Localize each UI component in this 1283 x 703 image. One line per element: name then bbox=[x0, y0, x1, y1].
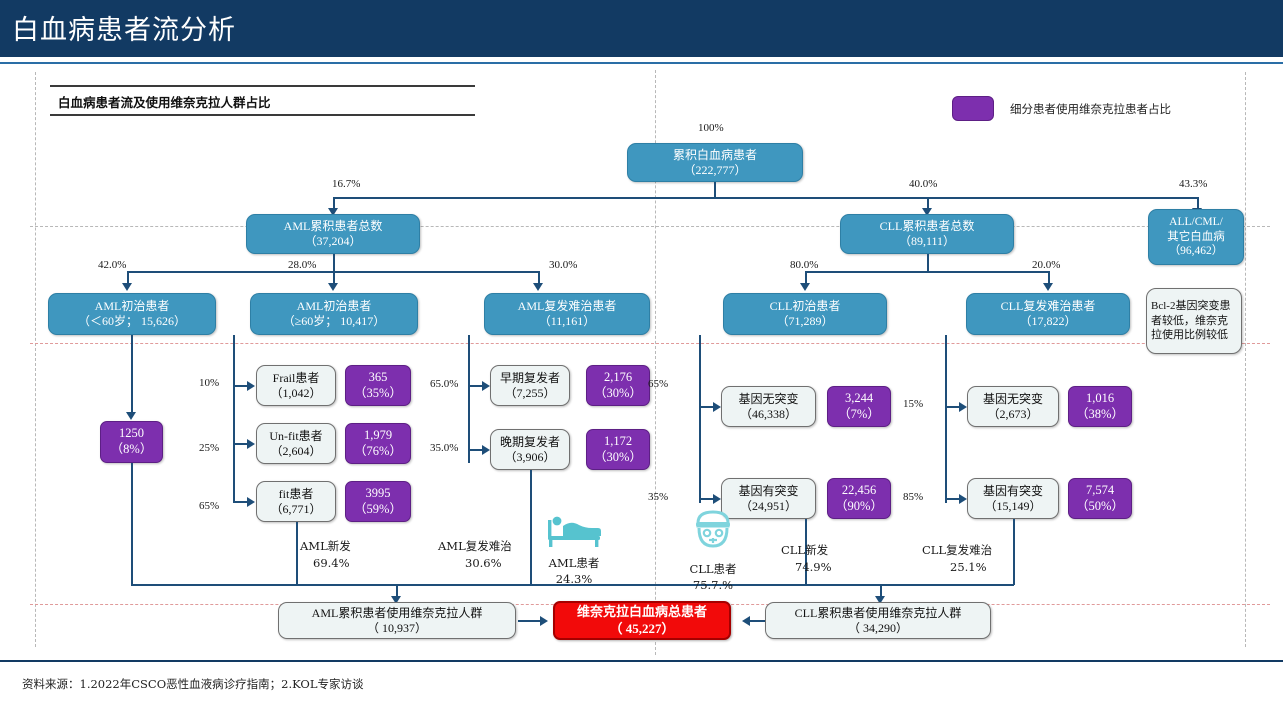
node-cll-relapse[interactable]: CLL复发难治患者 （17,822） bbox=[966, 293, 1130, 335]
pct-cll-relapse: 20.0% bbox=[1032, 259, 1060, 271]
node-cll-first-nomut-name: 基因无突变 bbox=[738, 392, 798, 407]
conn-cllfirst-spine bbox=[699, 335, 701, 503]
conn-cllrel-collect bbox=[1013, 519, 1015, 585]
node-grand-total-name: 维奈克拉白血病总患者 bbox=[577, 604, 707, 620]
guide-horizontal-top bbox=[30, 226, 1270, 227]
pct-early-relapse: 65.0% bbox=[430, 378, 458, 390]
node-cll-first-nomut-ven-pct: （7%） bbox=[838, 407, 880, 423]
guide-vertical-left bbox=[35, 72, 36, 647]
node-cll-first-mut-ven-value: 22,456 bbox=[842, 483, 876, 499]
page-title: 白血病患者流分析 bbox=[12, 8, 236, 47]
node-aml-total-value: （37,204） bbox=[304, 234, 361, 249]
node-frail-value: （1,042） bbox=[270, 386, 321, 401]
node-cll-total-value: （89,111） bbox=[899, 234, 955, 249]
arrow-to-aml-o60 bbox=[328, 283, 338, 291]
conn-cll-bus bbox=[805, 271, 1050, 273]
conn-cll-down bbox=[927, 254, 929, 272]
pct-cll-rel-mut: 85% bbox=[903, 491, 923, 503]
arrow-aml-to-total bbox=[540, 616, 548, 626]
legend: 细分患者使用维奈克拉患者占比 bbox=[952, 96, 1171, 121]
conn-amlo60-collect bbox=[296, 522, 298, 585]
node-cll-rel-mut-value: （15,149） bbox=[984, 499, 1041, 514]
label-cll-patient: CLL患者 bbox=[683, 561, 743, 577]
pct-aml-total: 16.7% bbox=[332, 178, 360, 190]
node-late-relapse[interactable]: 晚期复发者 （3,906） bbox=[490, 429, 570, 470]
arrow-to-cll-first-nomut bbox=[713, 402, 721, 412]
arrow-to-cll-rel-mut bbox=[959, 494, 967, 504]
pct-aml-over60: 28.0% bbox=[288, 259, 316, 271]
node-root-value: （222,777） bbox=[683, 163, 746, 178]
arrow-to-cll-rel bbox=[1043, 283, 1053, 291]
node-late-relapse-value: （3,906） bbox=[504, 450, 555, 465]
node-grand-total-value: （ 45,227） bbox=[609, 621, 674, 637]
node-aml-ven-total-name: AML累积患者使用维奈克拉人群 bbox=[312, 606, 483, 621]
node-root-name: 累积白血病患者 bbox=[673, 148, 757, 163]
node-early-relapse-ven[interactable]: 2,176 （30%） bbox=[586, 365, 650, 406]
node-cll-rel-nomut-name: 基因无突变 bbox=[983, 392, 1043, 407]
node-cll-first-mut-name: 基因有突变 bbox=[738, 484, 798, 499]
pct-cll-total: 40.0% bbox=[909, 178, 937, 190]
node-cll-rel-mut[interactable]: 基因有突变 （15,149） bbox=[967, 478, 1059, 519]
node-aml-ven-total[interactable]: AML累积患者使用维奈克拉人群 （ 10,937） bbox=[278, 602, 516, 639]
conn-amlrel-collect bbox=[530, 470, 532, 585]
hospital-bed-icon bbox=[546, 512, 602, 553]
node-unfit-ven[interactable]: 1,979 （76%） bbox=[345, 423, 411, 464]
node-early-relapse-value: （7,255） bbox=[504, 386, 555, 401]
node-cll-first-nomut-value: （46,338） bbox=[740, 407, 797, 422]
arrow-to-aml-u60 bbox=[122, 283, 132, 291]
note-bcl2-text: Bcl-2基因突变患者较低，维奈克拉使用比例较低 bbox=[1151, 299, 1237, 344]
node-frail-name: Frail患者 bbox=[273, 371, 320, 386]
node-cll-rel-mut-ven-pct: （50%） bbox=[1076, 499, 1124, 515]
conn-amlu60-down bbox=[131, 335, 133, 414]
arrow-to-unfit bbox=[247, 439, 255, 449]
pct-late-relapse: 35.0% bbox=[430, 442, 458, 454]
conn-aml-to-total bbox=[518, 620, 542, 622]
label-aml-rr: AML复发难治 bbox=[438, 538, 512, 554]
conn-amlu60ven-down bbox=[131, 463, 133, 585]
legend-swatch-purple bbox=[952, 96, 994, 121]
legend-label: 细分患者使用维奈克拉患者占比 bbox=[1010, 101, 1171, 117]
node-cll-ven-total-value: （ 34,290） bbox=[848, 621, 908, 636]
node-root-leukemia[interactable]: 累积白血病患者 （222,777） bbox=[627, 143, 803, 182]
subtitle-text: 白血病患者流及使用维奈克拉人群占比 bbox=[50, 87, 475, 114]
node-late-relapse-ven[interactable]: 1,172 （30%） bbox=[586, 429, 650, 470]
node-fit-ven-value: 3995 bbox=[366, 486, 391, 502]
arrow-amlu60-down bbox=[126, 412, 136, 420]
node-aml-total[interactable]: AML累积患者总数 （37,204） bbox=[246, 214, 420, 254]
conn-amlrel-spine bbox=[468, 335, 470, 463]
section-subtitle: 白血病患者流及使用维奈克拉人群占比 bbox=[50, 85, 475, 116]
node-cll-rel-mut-ven[interactable]: 7,574 （50%） bbox=[1068, 478, 1132, 519]
node-other-leukemia[interactable]: ALL/CML/ 其它白血病 （96,462） bbox=[1148, 209, 1244, 265]
label-cll-new: CLL新发 bbox=[781, 542, 828, 558]
node-aml-relapse-value: （11,161） bbox=[539, 314, 596, 329]
node-aml-under60-ven-pct: （8%） bbox=[111, 442, 153, 458]
conn-cllrel-spine bbox=[945, 335, 947, 503]
label-aml-rr-pct: 30.6% bbox=[465, 556, 502, 570]
node-unfit-ven-pct: （76%） bbox=[354, 444, 402, 460]
arrow-to-frail bbox=[247, 381, 255, 391]
pct-cll-first-mut: 35% bbox=[648, 491, 668, 503]
node-frail-ven-pct: （35%） bbox=[354, 386, 402, 402]
node-unfit-value: （2,604） bbox=[270, 444, 321, 459]
node-late-relapse-name: 晚期复发者 bbox=[500, 435, 560, 450]
node-cll-ven-total-name: CLL累积患者使用维奈克拉人群 bbox=[795, 606, 962, 621]
arrow-to-early-relapse bbox=[482, 381, 490, 391]
node-aml-over60-value: （≥60岁； 10,417） bbox=[283, 314, 386, 329]
node-fit-ven-pct: （59%） bbox=[354, 502, 402, 518]
node-cll-first-nomut-ven-value: 3,244 bbox=[845, 391, 873, 407]
arrow-to-cll-first bbox=[800, 283, 810, 291]
slide-canvas: 白血病患者流分析 白血病患者流及使用维奈克拉人群占比 细分患者使用维奈克拉患者占… bbox=[0, 0, 1283, 703]
banner-rule bbox=[0, 57, 1283, 64]
node-unfit-ven-value: 1,979 bbox=[364, 428, 392, 444]
node-fit-name: fit患者 bbox=[279, 487, 314, 502]
node-frail-ven-value: 365 bbox=[369, 370, 388, 386]
conn-aml-down bbox=[333, 254, 335, 272]
arrow-to-cll-rel-nomut bbox=[959, 402, 967, 412]
node-cll-first-nomut-ven[interactable]: 3,244 （7%） bbox=[827, 386, 891, 427]
node-unfit-name: Un-fit患者 bbox=[269, 429, 322, 444]
pct-aml-relapse: 30.0% bbox=[549, 259, 577, 271]
node-cll-rel-nomut-ven[interactable]: 1,016 （38%） bbox=[1068, 386, 1132, 427]
pct-other-total: 43.3% bbox=[1179, 178, 1207, 190]
node-cll-rel-nomut[interactable]: 基因无突变 （2,673） bbox=[967, 386, 1059, 427]
arrow-to-fit bbox=[247, 497, 255, 507]
node-cll-first[interactable]: CLL初治患者 （71,289） bbox=[723, 293, 887, 335]
pct-root: 100% bbox=[698, 122, 724, 134]
node-cll-rel-nomut-value: （2,673） bbox=[987, 407, 1038, 422]
label-cll-new-pct: 74.9% bbox=[795, 560, 832, 574]
node-aml-under60-ven-value: 1250 bbox=[119, 426, 144, 442]
node-aml-under60-value: （＜60岁； 15,626） bbox=[78, 314, 186, 329]
node-grand-total[interactable]: 维奈克拉白血病总患者 （ 45,227） bbox=[553, 601, 731, 640]
pct-cll-first: 80.0% bbox=[790, 259, 818, 271]
pct-cll-rel-nomut: 15% bbox=[903, 398, 923, 410]
node-early-relapse-name: 早期复发者 bbox=[500, 371, 560, 386]
pct-fit: 65% bbox=[199, 500, 219, 512]
node-early-relapse-ven-value: 2,176 bbox=[604, 370, 632, 386]
node-cll-first-mut-value: （24,951） bbox=[740, 499, 797, 514]
node-aml-relapse-name: AML复发难治患者 bbox=[518, 299, 617, 314]
node-cll-ven-total[interactable]: CLL累积患者使用维奈克拉人群 （ 34,290） bbox=[765, 602, 991, 639]
conn-amlo60-spine bbox=[233, 335, 235, 501]
node-aml-over60[interactable]: AML初治患者 （≥60岁； 10,417） bbox=[250, 293, 418, 335]
patient-face-icon bbox=[690, 508, 736, 561]
guide-horizontal-mid bbox=[30, 343, 1270, 344]
node-cll-first-value: （71,289） bbox=[776, 314, 833, 329]
node-cll-rel-mut-name: 基因有突变 bbox=[983, 484, 1043, 499]
node-aml-under60-name: AML初治患者 bbox=[95, 299, 170, 314]
node-aml-ven-total-value: （ 10,937） bbox=[367, 621, 427, 636]
node-cll-relapse-value: （17,822） bbox=[1019, 314, 1076, 329]
guide-vertical-right bbox=[1245, 72, 1246, 647]
node-other-line2: 其它白血病 bbox=[1167, 230, 1225, 244]
arrow-cll-to-total bbox=[742, 616, 750, 626]
label-aml-patient: AML患者 bbox=[546, 555, 602, 571]
label-cll-rr: CLL复发难治 bbox=[922, 542, 992, 558]
node-cll-total-name: CLL累积患者总数 bbox=[880, 219, 975, 234]
pct-frail: 10% bbox=[199, 377, 219, 389]
label-cll-patient-pct: 75.7.% bbox=[683, 578, 743, 592]
pct-unfit: 25% bbox=[199, 442, 219, 454]
node-late-relapse-ven-value: 1,172 bbox=[604, 434, 632, 450]
node-early-relapse-ven-pct: （30%） bbox=[594, 386, 642, 402]
node-other-line1: ALL/CML/ bbox=[1169, 215, 1223, 229]
pct-aml-under60: 42.0% bbox=[98, 259, 126, 271]
node-frail-ven[interactable]: 365 （35%） bbox=[345, 365, 411, 406]
subtitle-bottom-rule bbox=[50, 114, 475, 116]
arrow-to-late-relapse bbox=[482, 445, 490, 455]
node-cll-rel-nomut-ven-pct: （38%） bbox=[1076, 407, 1124, 423]
node-aml-over60-name: AML初治患者 bbox=[297, 299, 372, 314]
arrow-to-cll-first-mut bbox=[713, 494, 721, 504]
footer-rule bbox=[0, 660, 1283, 662]
node-fit-ven[interactable]: 3995 （59%） bbox=[345, 481, 411, 522]
node-cll-first-mut-ven-pct: （90%） bbox=[835, 499, 883, 515]
node-cll-first-nomut[interactable]: 基因无突变 （46,338） bbox=[721, 386, 816, 427]
label-cll-rr-pct: 25.1% bbox=[950, 560, 987, 574]
node-early-relapse[interactable]: 早期复发者 （7,255） bbox=[490, 365, 570, 406]
node-aml-under60-ven[interactable]: 1250 （8%） bbox=[100, 421, 163, 463]
arrow-to-aml-rel bbox=[533, 283, 543, 291]
node-late-relapse-ven-pct: （30%） bbox=[594, 450, 642, 466]
node-cll-relapse-name: CLL复发难治患者 bbox=[1001, 299, 1096, 314]
note-bcl2: Bcl-2基因突变患者较低，维奈克拉使用比例较低 bbox=[1146, 288, 1242, 354]
conn-level1-bus bbox=[333, 197, 1198, 199]
label-aml-new-pct: 69.4% bbox=[313, 556, 350, 570]
node-unfit[interactable]: Un-fit患者 （2,604） bbox=[256, 423, 336, 464]
label-aml-new: AML新发 bbox=[300, 538, 351, 554]
footer-source: 资料来源：1.2022年CSCO恶性血液病诊疗指南；2.KOL专家访谈 bbox=[22, 676, 363, 692]
node-cll-rel-mut-ven-value: 7,574 bbox=[1086, 483, 1114, 499]
label-aml-patient-pct: 24.3% bbox=[546, 572, 602, 586]
node-cll-first-name: CLL初治患者 bbox=[770, 299, 841, 314]
node-aml-total-name: AML累积患者总数 bbox=[284, 219, 383, 234]
node-fit-value: （6,771） bbox=[270, 502, 321, 517]
node-cll-first-mut-ven[interactable]: 22,456 （90%） bbox=[827, 478, 891, 519]
conn-cll-bottom-bus bbox=[805, 584, 1014, 586]
title-banner: 白血病患者流分析 bbox=[0, 0, 1283, 57]
node-cll-total[interactable]: CLL累积患者总数 （89,111） bbox=[840, 214, 1014, 254]
node-fit[interactable]: fit患者 （6,771） bbox=[256, 481, 336, 522]
conn-root-down bbox=[714, 182, 716, 198]
pct-cll-first-nomut: 65% bbox=[648, 378, 668, 390]
node-frail[interactable]: Frail患者 （1,042） bbox=[256, 365, 336, 406]
node-cll-rel-nomut-ven-value: 1,016 bbox=[1086, 391, 1114, 407]
node-other-value: （96,462） bbox=[1169, 244, 1224, 258]
node-aml-under60[interactable]: AML初治患者 （＜60岁； 15,626） bbox=[48, 293, 216, 335]
node-aml-relapse[interactable]: AML复发难治患者 （11,161） bbox=[484, 293, 650, 335]
